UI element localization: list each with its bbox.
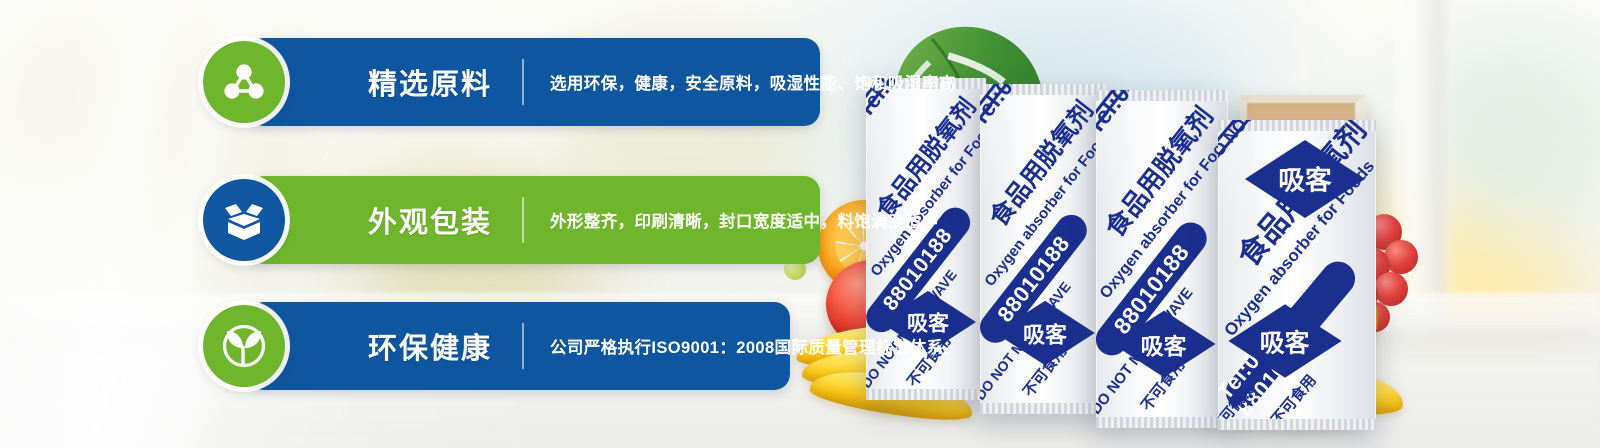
open-box-icon (203, 179, 285, 261)
feature-desc-2: 外形整齐，印刷清晰，封口宽度适中，料饱满度适中 (550, 208, 939, 232)
feature-bar-3[interactable]: 环保健康 公司严格执行ISO9001：2008国际质量管理标准体系。 (248, 302, 790, 390)
feature-desc-1: 选用环保，健康，安全原料，吸湿性能、饱和吸湿率高 (550, 70, 956, 94)
sprout-icon (203, 305, 285, 387)
feature-desc-3: 公司严格执行ISO9001：2008国际质量管理标准体系。 (550, 334, 960, 358)
feature-list: 精选原料 选用环保，健康，安全原料，吸湿性能、饱和吸湿率高 外观包装 (0, 0, 1600, 448)
promo-banner: Tel:0411-88010188 食品用脱氧剂 Oxygen absorber… (0, 0, 1600, 448)
feature-bar-2[interactable]: 外观包装 外形整齐，印刷清晰，封口宽度适中，料饱满度适中 (248, 176, 820, 264)
feature-divider (522, 59, 524, 105)
feature-divider (522, 197, 524, 243)
feature-title-1: 精选原料 (368, 61, 492, 103)
molecule-icon (203, 41, 285, 123)
feature-divider (522, 323, 524, 369)
feature-bar-1[interactable]: 精选原料 选用环保，健康，安全原料，吸湿性能、饱和吸湿率高 (248, 38, 820, 126)
feature-title-3: 环保健康 (368, 325, 492, 367)
feature-title-2: 外观包装 (368, 199, 492, 241)
